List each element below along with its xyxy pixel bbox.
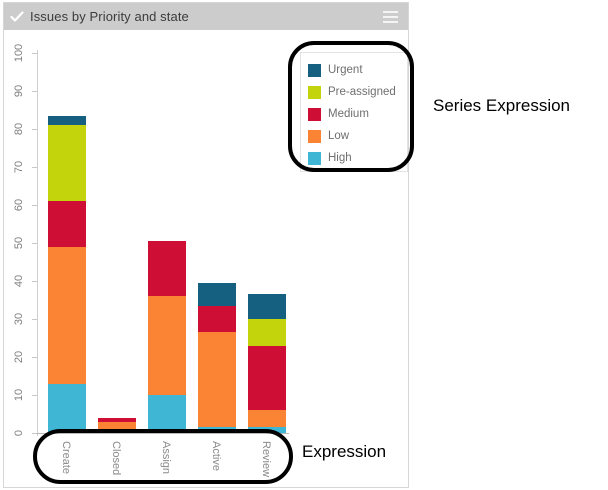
annotation-expression: Expression bbox=[302, 442, 386, 462]
y-axis-tick-label: 90 bbox=[6, 78, 32, 104]
y-axis-tick-label: 60 bbox=[6, 192, 32, 218]
x-axis-label: Active bbox=[198, 437, 236, 485]
stacked-bar[interactable] bbox=[48, 116, 86, 433]
x-axis-label-text: Review bbox=[260, 441, 272, 477]
y-axis-tick-value: 80 bbox=[13, 123, 25, 135]
legend-swatch-icon bbox=[308, 152, 321, 165]
y-axis-tick-value: 10 bbox=[13, 389, 25, 401]
y-axis-tick-value: 50 bbox=[13, 237, 25, 249]
bar-segment[interactable] bbox=[198, 283, 236, 306]
x-axis-label: Closed bbox=[98, 437, 136, 485]
y-axis-tick-value: 40 bbox=[13, 275, 25, 287]
x-axis-label-text: Closed bbox=[110, 441, 122, 475]
legend-swatch-icon bbox=[308, 108, 321, 121]
bar-segment[interactable] bbox=[148, 395, 186, 433]
bar-segment[interactable] bbox=[48, 384, 86, 433]
y-axis-tick-label: 30 bbox=[6, 306, 32, 332]
check-icon bbox=[4, 3, 30, 30]
y-axis-labels: 0102030405060708090100 bbox=[6, 30, 32, 487]
bar-segment[interactable] bbox=[248, 319, 286, 346]
legend-swatch-icon bbox=[308, 130, 321, 143]
bar-segment[interactable] bbox=[98, 429, 136, 433]
legend-item[interactable]: Urgent bbox=[308, 59, 400, 81]
bar-segment[interactable] bbox=[148, 241, 186, 296]
legend-item-label: Pre-assigned bbox=[328, 86, 396, 98]
y-axis-tick-label: 10 bbox=[6, 382, 32, 408]
stacked-bar[interactable] bbox=[148, 241, 186, 433]
y-axis-tick-label: 70 bbox=[6, 154, 32, 180]
legend-item-label: Urgent bbox=[328, 64, 363, 76]
bar-segment[interactable] bbox=[248, 410, 286, 427]
chart-panel: Issues by Priority and state 01020304050… bbox=[3, 2, 409, 488]
x-axis-label: Review bbox=[248, 437, 286, 485]
x-axis-label: Assign bbox=[148, 437, 186, 485]
bar-segment[interactable] bbox=[48, 247, 86, 384]
bar-segment[interactable] bbox=[248, 427, 286, 433]
y-axis-tick-value: 70 bbox=[13, 161, 25, 173]
hamburger-menu-icon[interactable] bbox=[378, 3, 408, 30]
y-axis-tick-label: 50 bbox=[6, 230, 32, 256]
chart-legend: UrgentPre-assignedMediumLowHigh bbox=[300, 52, 408, 172]
bar-segment[interactable] bbox=[48, 125, 86, 201]
bar-segment[interactable] bbox=[148, 296, 186, 395]
x-axis-line bbox=[37, 433, 289, 434]
y-axis-tick-value: 20 bbox=[13, 351, 25, 363]
bar-segment[interactable] bbox=[248, 346, 286, 411]
bar-segment[interactable] bbox=[198, 427, 236, 433]
x-axis-label-text: Create bbox=[60, 441, 72, 474]
legend-item-label: Medium bbox=[328, 108, 369, 120]
y-axis-tick-value: 60 bbox=[13, 199, 25, 211]
legend-item-label: Low bbox=[328, 130, 349, 142]
legend-swatch-icon bbox=[308, 64, 321, 77]
legend-item[interactable]: Low bbox=[308, 125, 400, 147]
legend-item[interactable]: Pre-assigned bbox=[308, 81, 400, 103]
x-axis-label: Create bbox=[48, 437, 86, 485]
bar-segment[interactable] bbox=[48, 116, 86, 126]
stacked-bar[interactable] bbox=[248, 294, 286, 433]
y-axis-tick bbox=[32, 433, 37, 434]
stacked-bar[interactable] bbox=[98, 418, 136, 433]
stacked-bar[interactable] bbox=[198, 283, 236, 433]
x-axis-label-text: Assign bbox=[160, 441, 172, 474]
bar-segment[interactable] bbox=[198, 306, 236, 333]
y-axis-tick-value: 100 bbox=[13, 44, 25, 62]
panel-title: Issues by Priority and state bbox=[30, 9, 378, 24]
bar-segment[interactable] bbox=[98, 422, 136, 430]
y-axis-tick-value: 0 bbox=[13, 430, 25, 436]
y-axis-tick-label: 80 bbox=[6, 116, 32, 142]
y-axis-tick-label: 100 bbox=[6, 40, 32, 66]
bar-segment[interactable] bbox=[48, 201, 86, 247]
y-axis-tick-label: 40 bbox=[6, 268, 32, 294]
bar-segment[interactable] bbox=[198, 332, 236, 427]
legend-item[interactable]: Medium bbox=[308, 103, 400, 125]
y-axis-tick-label: 0 bbox=[6, 420, 32, 446]
y-axis-tick-value: 90 bbox=[13, 85, 25, 97]
chart-plot-area: 0102030405060708090100 CreateClosedAssig… bbox=[4, 30, 408, 487]
panel-header[interactable]: Issues by Priority and state bbox=[4, 3, 408, 30]
legend-item-label: High bbox=[328, 152, 352, 164]
legend-item[interactable]: High bbox=[308, 147, 400, 169]
bar-segment[interactable] bbox=[248, 294, 286, 319]
screenshot-root: Issues by Priority and state 01020304050… bbox=[0, 0, 608, 490]
bars-container bbox=[37, 53, 287, 433]
y-axis-tick-value: 30 bbox=[13, 313, 25, 325]
x-axis-labels: CreateClosedAssignActiveReview bbox=[37, 437, 289, 487]
annotation-series-expression: Series Expression bbox=[433, 96, 570, 116]
legend-swatch-icon bbox=[308, 86, 321, 99]
y-axis-tick-label: 20 bbox=[6, 344, 32, 370]
x-axis-label-text: Active bbox=[210, 441, 222, 471]
